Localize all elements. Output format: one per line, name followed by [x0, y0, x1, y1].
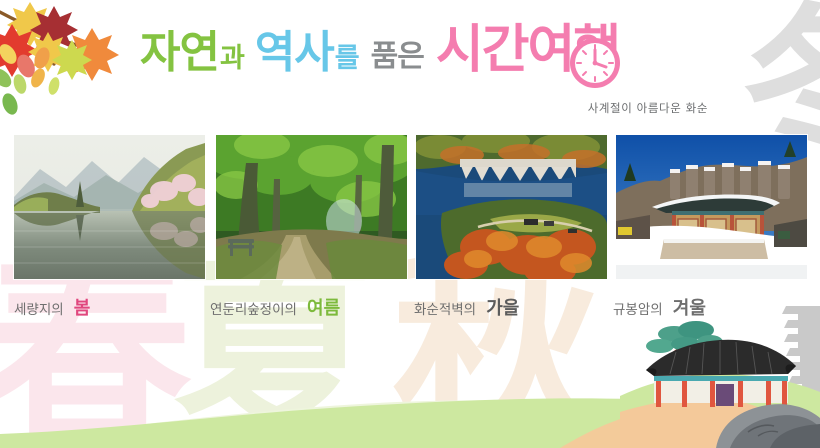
title-word-time-1: 시: [436, 26, 482, 75]
photo-summer[interactable]: [216, 135, 407, 279]
caption-season-spring: 봄: [74, 298, 91, 319]
caption-place-autumn: 화순적벽의: [414, 302, 476, 318]
caption-place-spring: 세량지의: [14, 302, 64, 318]
caption-season-summer: 여름: [307, 298, 340, 319]
photo-autumn[interactable]: [416, 135, 607, 279]
title-word-nature: 자연: [140, 31, 219, 75]
poster-subtitle: 사계절이 아름다운 화순: [588, 100, 708, 116]
photo-winter[interactable]: [616, 135, 807, 279]
season-gallery: [0, 135, 820, 280]
title-word-time-2: 간: [482, 26, 528, 75]
caption-summer: 연둔리숲정이의 여름: [210, 294, 340, 320]
caption-season-autumn: 가을: [486, 298, 519, 319]
title-word-hold: 품은: [371, 42, 436, 75]
title-word-history: 역사: [255, 31, 334, 75]
photo-spring[interactable]: [14, 135, 205, 279]
caption-autumn: 화순적벽의 가을: [414, 294, 519, 320]
caption-spring: 세량지의 봄: [14, 294, 90, 320]
title-particle: 를: [334, 45, 371, 75]
poster-canvas: 春 夏 秋 冬: [0, 0, 820, 448]
title-word-and: 과: [219, 45, 255, 75]
clock-icon: [568, 36, 622, 90]
hanok-building-icon: [620, 308, 820, 448]
caption-place-summer: 연둔리숲정이의: [210, 302, 297, 318]
